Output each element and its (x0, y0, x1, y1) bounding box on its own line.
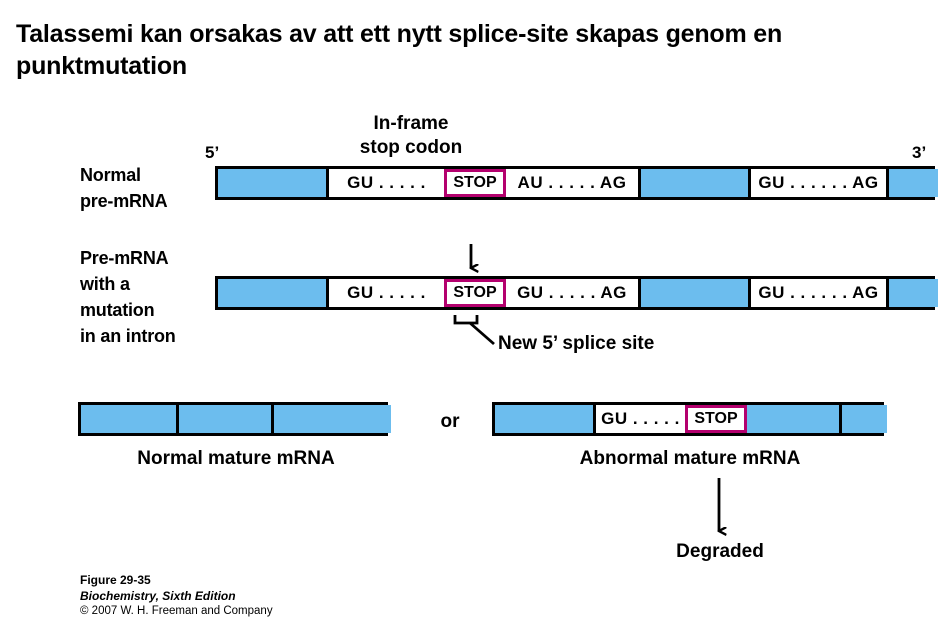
row-label-mutant-pre-mrna: Pre-mRNA with a mutation in an intron (80, 245, 176, 349)
abnormal-mature-mrna-segment-4-exon (747, 405, 839, 433)
book-title: Biochemistry, Sixth Edition (80, 588, 273, 604)
abnormal-mature-mrna-segment-5-exon (839, 405, 887, 433)
normal-pre-mrna-segment-5-exon (638, 169, 748, 197)
mutant-pre-mrna-segment-3-stop: STOP (444, 279, 506, 307)
normal-pre-mrna-segment-6-intron: GU . . . . . . AG (748, 169, 886, 197)
normal-pre-mrna-segment-4-intron: AU . . . . . AG (506, 169, 638, 197)
figure-canvas: Talassemi kan orsakas av att ett nytt sp… (0, 0, 948, 638)
normal-pre-mrna-segment-3-stop: STOP (444, 169, 506, 197)
figure-number: Figure 29-35 (80, 572, 273, 588)
row-label-normal-pre-mrna: Normal pre-mRNA (80, 162, 167, 214)
normal-pre-mrna-segment-2-intron: GU . . . . . (326, 169, 444, 197)
splice-site-brace (455, 315, 477, 323)
mutant-pre-mrna-segment-5-exon (638, 279, 748, 307)
splice-site-leader (470, 323, 494, 344)
abnormal-mature-mrna-segment-2-intron: GU . . . . . (593, 405, 685, 433)
mutant-pre-mrna-segment-6-intron: GU . . . . . . AG (748, 279, 886, 307)
normal-pre-mrna-segment-1-exon (218, 169, 326, 197)
new-splice-site-label: New 5’ splice site (498, 332, 698, 356)
in-frame-stop-codon-label: In-frame stop codon (316, 112, 506, 160)
mutant-pre-mrna-segment-2-intron: GU . . . . . (326, 279, 444, 307)
normal-pre-mrna-segment-7-exon (886, 169, 938, 197)
normal-mature-mrna-segment-1-exon (81, 405, 176, 433)
or-label: or (428, 410, 472, 434)
bar-abnormal-mature-mrna: GU . . . . .STOP (492, 402, 884, 436)
figure-credits: Figure 29-35 Biochemistry, Sixth Edition… (80, 572, 273, 620)
mutant-pre-mrna-segment-7-exon (886, 279, 938, 307)
abnormal-mature-mrna-segment-3-stop: STOP (685, 405, 747, 433)
caption-abnormal-mature-mrna: Abnormal mature mRNA (492, 448, 888, 470)
mutant-pre-mrna-segment-1-exon (218, 279, 326, 307)
three-prime-label-row1: 3’ (912, 143, 926, 163)
degraded-label: Degraded (620, 541, 820, 563)
abnormal-mature-mrna-segment-1-exon (495, 405, 593, 433)
copyright-line: © 2007 W. H. Freeman and Company (80, 604, 273, 620)
five-prime-label-row1: 5’ (205, 143, 219, 163)
bar-normal-mature-mrna (78, 402, 388, 436)
bar-mutant-pre-mrna: GU . . . . .STOPGU . . . . . AGGU . . . … (215, 276, 935, 310)
mutant-pre-mrna-segment-4-intron: GU . . . . . AG (506, 279, 638, 307)
caption-normal-mature-mrna: Normal mature mRNA (78, 448, 394, 470)
normal-mature-mrna-segment-2-exon (176, 405, 271, 433)
page-title: Talassemi kan orsakas av att ett nytt sp… (16, 18, 916, 82)
bar-normal-pre-mrna: GU . . . . .STOPAU . . . . . AGGU . . . … (215, 166, 935, 200)
normal-mature-mrna-segment-3-exon (271, 405, 391, 433)
